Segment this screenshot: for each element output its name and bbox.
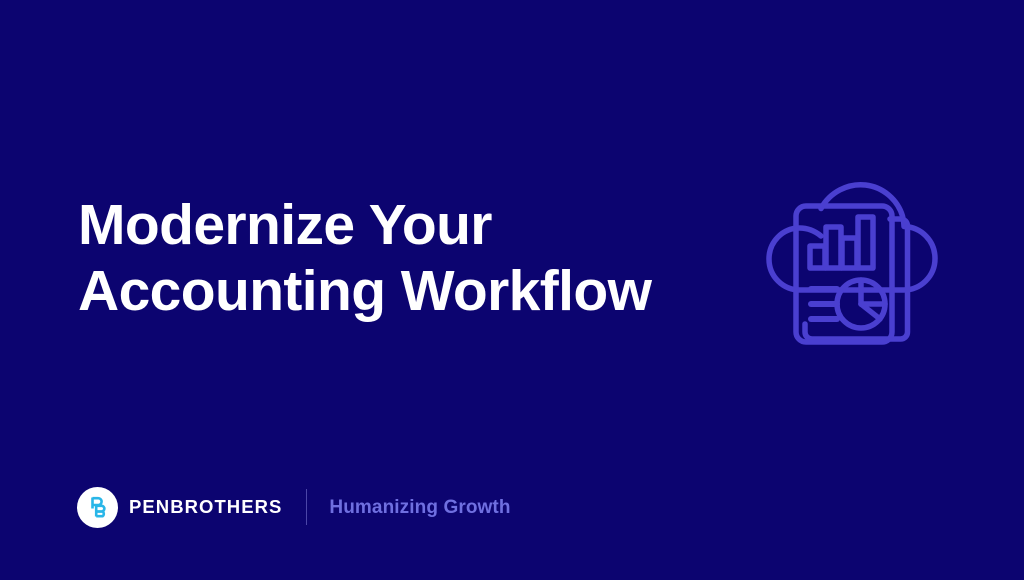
promo-banner: Modernize Your Accounting Workflow [0,0,1024,580]
brand-lockup: PENBROTHERS Humanizing Growth [77,486,511,528]
headline-line-1: Modernize Your [78,192,738,258]
headline-line-2: Accounting Workflow [78,258,738,324]
lockup-divider [306,489,307,525]
cloud-accounting-report-illustration [752,172,952,368]
brand-tagline: Humanizing Growth [329,498,510,517]
page-title: Modernize Your Accounting Workflow [78,192,738,324]
text-lines-icon [811,289,837,319]
penbrothers-logo-icon [77,487,118,528]
penbrothers-wordmark: PENBROTHERS [129,498,282,517]
pie-chart-icon [837,280,885,328]
bar-chart-icon [810,217,873,268]
